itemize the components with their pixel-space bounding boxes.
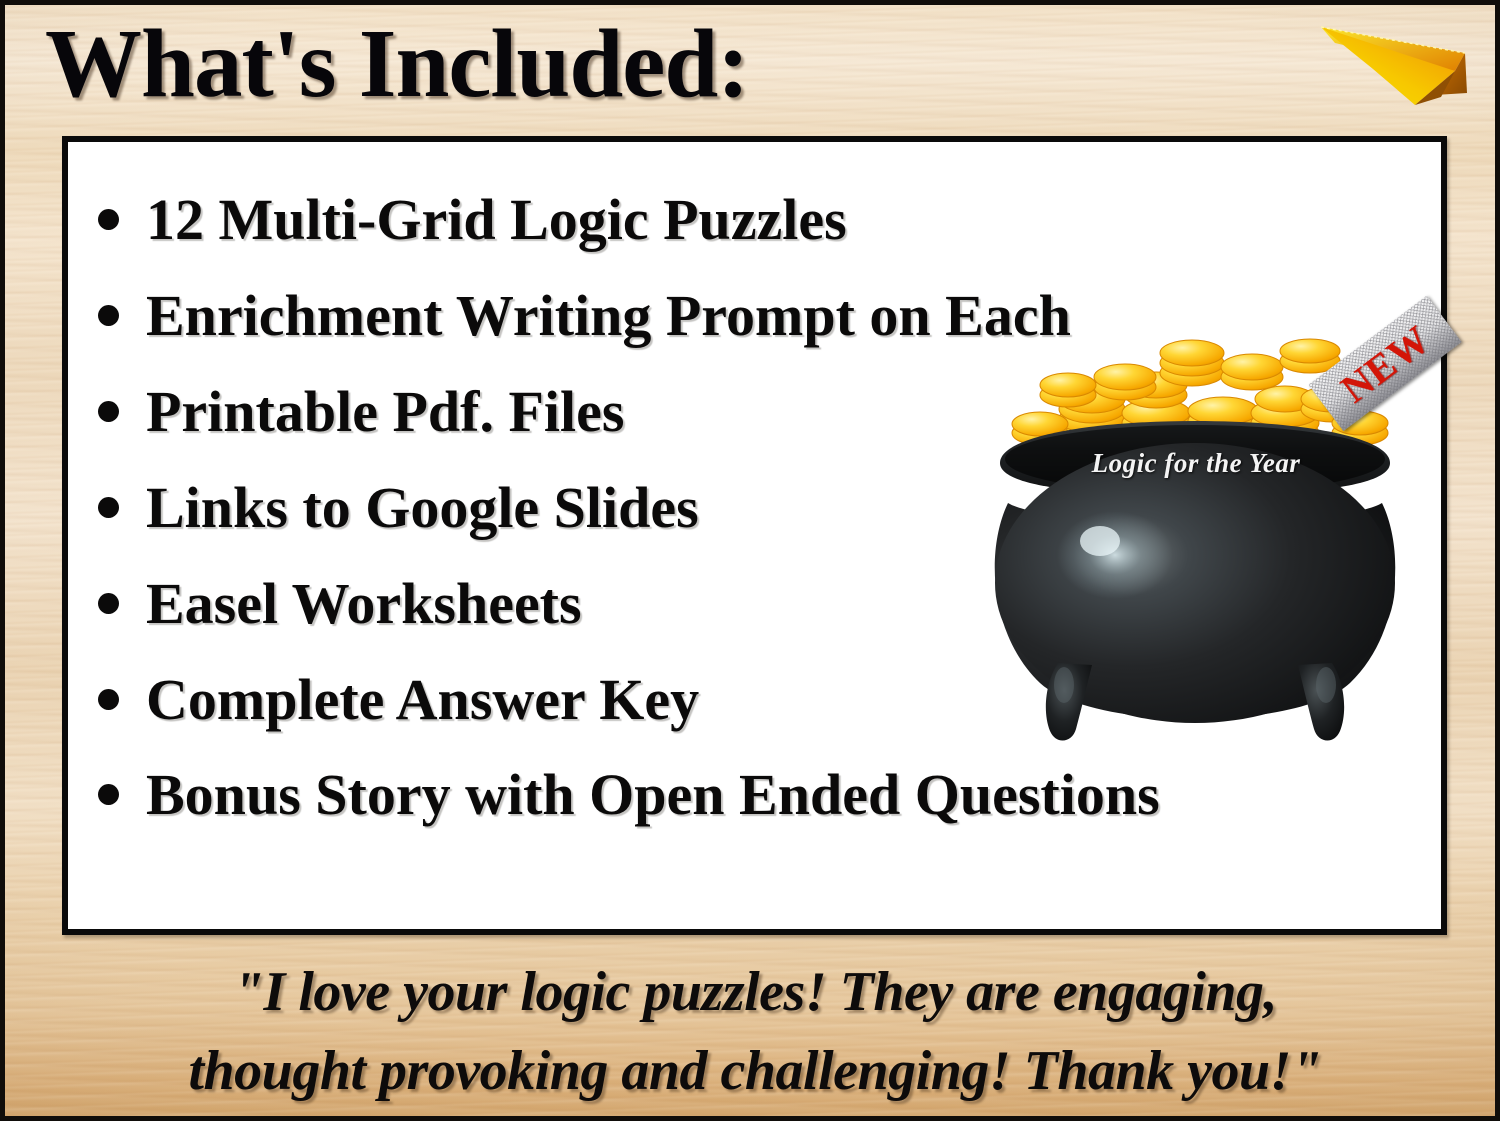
page-title: What's Included: (45, 11, 749, 118)
bullet-icon (98, 689, 119, 710)
list-item-label: Links to Google Slides (146, 475, 699, 540)
list-item: 12 Multi-Grid Logic Puzzles (68, 172, 1441, 268)
list-item: Bonus Story with Open Ended Questions (68, 748, 1441, 842)
pot-label: Logic for the Year (1071, 448, 1321, 479)
list-item-label: Printable Pdf. Files (146, 379, 624, 444)
bullet-icon (98, 209, 119, 230)
testimonial-line-2: thought provoking and challenging! Thank… (5, 1032, 1500, 1111)
testimonial: "I love your logic puzzles! They are eng… (5, 953, 1500, 1111)
product-preview-page: What's Included: (0, 0, 1500, 1121)
testimonial-line-1: "I love your logic puzzles! They are eng… (5, 953, 1500, 1032)
bullet-icon (98, 305, 119, 326)
paper-airplane-icon (1305, 13, 1480, 118)
bullet-icon (98, 593, 119, 614)
list-item-label: Bonus Story with Open Ended Questions (146, 748, 1166, 842)
bullet-icon (98, 401, 119, 422)
list-item-label: Complete Answer Key (146, 667, 699, 732)
list-item-label: Easel Worksheets (146, 571, 582, 636)
list-item-label: 12 Multi-Grid Logic Puzzles (146, 187, 847, 252)
bullet-icon (98, 784, 119, 805)
list-item-label: Enrichment Writing Prompt on Each (146, 283, 1071, 348)
bullet-icon (98, 497, 119, 518)
